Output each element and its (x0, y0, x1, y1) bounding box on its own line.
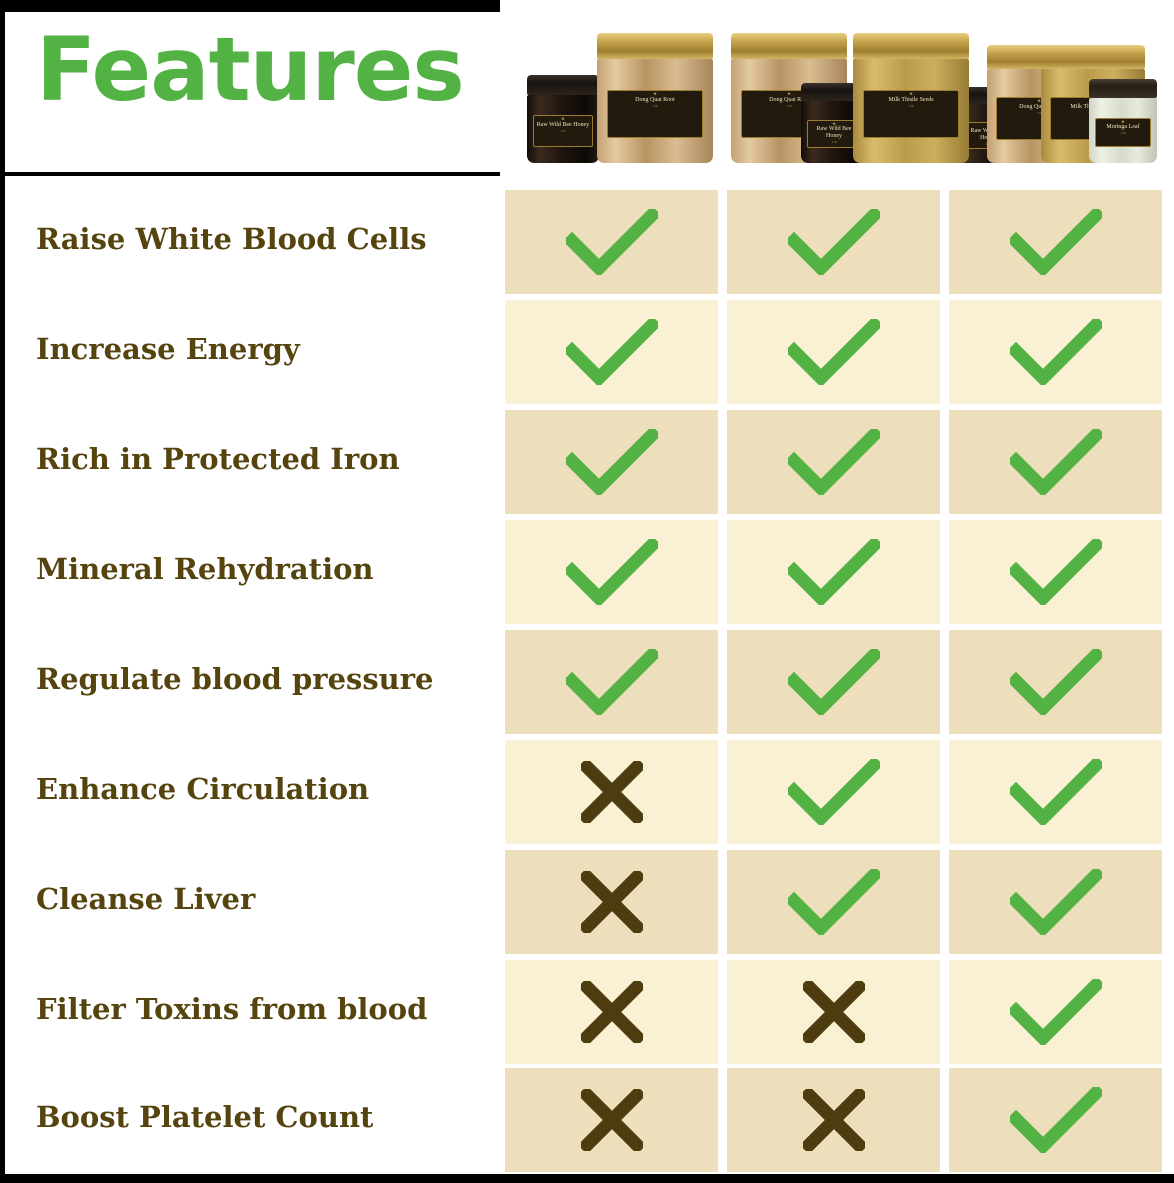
feature-label: Rich in Protected Iron (36, 442, 400, 476)
header-frame-bottom-border (0, 172, 500, 176)
check-icon (788, 539, 880, 605)
jar-lid (731, 33, 847, 59)
check-icon (788, 319, 880, 385)
comparison-cell (727, 630, 940, 734)
feature-label: Increase Energy (36, 332, 300, 366)
check-icon (566, 539, 658, 605)
jar-label-size: 1 lb (534, 129, 591, 133)
check-icon (1010, 1087, 1102, 1153)
comparison-cell (949, 740, 1162, 844)
jar-label-size: 1 lb (864, 104, 957, 108)
jar-lid (1041, 45, 1145, 69)
cross-icon (803, 981, 865, 1043)
cross-icon (581, 1089, 643, 1151)
comparison-cell (727, 960, 940, 1064)
comparison-cell (505, 1068, 718, 1172)
check-icon (788, 759, 880, 825)
feature-label: Raise White Blood Cells (36, 222, 427, 256)
comparison-cell (505, 630, 718, 734)
jar-label-name: Milk Thistle Seeds (864, 97, 957, 104)
product-jar-clear: ❀Moringa Leaf1 lb (1089, 79, 1157, 163)
comparison-cell (727, 410, 940, 514)
check-icon (788, 649, 880, 715)
feature-label: Filter Toxins from blood (36, 992, 427, 1026)
comparison-cell (727, 300, 940, 404)
feature-label: Cleanse Liver (36, 882, 255, 916)
header-frame-top-border (0, 0, 500, 12)
comparison-cell (505, 190, 718, 294)
feature-label: Enhance Circulation (36, 772, 369, 806)
check-icon (788, 209, 880, 275)
feature-label: Regulate blood pressure (36, 662, 434, 696)
comparison-cell (949, 850, 1162, 954)
comparison-cell (949, 410, 1162, 514)
check-icon (566, 649, 658, 715)
feature-label: Mineral Rehydration (36, 552, 374, 586)
check-icon (1010, 429, 1102, 495)
comparison-cell (505, 520, 718, 624)
comparison-cell (727, 740, 940, 844)
page-left-border (0, 0, 5, 1183)
comparison-cell (505, 960, 718, 1064)
check-icon (788, 869, 880, 935)
cross-icon (581, 761, 643, 823)
check-icon (1010, 649, 1102, 715)
jar-label: ❀Dong Quai Root1 lb (607, 90, 702, 138)
comparison-cell (505, 300, 718, 404)
check-icon (1010, 209, 1102, 275)
jar-label: ❀Milk Thistle Seeds1 lb (863, 90, 958, 138)
cross-icon (581, 871, 643, 933)
check-icon (788, 429, 880, 495)
check-icon (566, 209, 658, 275)
jar-label-name: Moringa Leaf (1096, 124, 1150, 131)
product-column-1: ❀Raw Wild Bee Honey1 lb❀Dong Quai Root1 … (505, 30, 718, 185)
check-icon (1010, 759, 1102, 825)
comparison-cell (949, 520, 1162, 624)
jar-label: ❀Moringa Leaf1 lb (1095, 118, 1151, 148)
jar-lid (853, 33, 969, 59)
jar-lid (597, 33, 713, 59)
comparison-cell (505, 740, 718, 844)
comparison-cell (949, 1068, 1162, 1172)
product-column-3: ❀Raw Wild Bee Honey1 lb❀Dong Quai Root1 … (949, 30, 1162, 185)
page-title: Features (36, 26, 464, 114)
check-icon (566, 429, 658, 495)
check-icon (1010, 979, 1102, 1045)
comparison-cell (727, 1068, 940, 1172)
cross-icon (803, 1089, 865, 1151)
comparison-cell (949, 630, 1162, 734)
jar-label-name: Dong Quai Root (608, 97, 701, 104)
product-jar-root: ❀Dong Quai Root1 lb (597, 33, 713, 163)
check-icon (1010, 539, 1102, 605)
jar-label-size: 1 lb (1096, 131, 1150, 135)
product-jar-seed: ❀Milk Thistle Seeds1 lb (853, 33, 969, 163)
comparison-cell (949, 190, 1162, 294)
jar-label: ❀Raw Wild Bee Honey1 lb (533, 115, 592, 146)
comparison-cell (505, 850, 718, 954)
check-icon (1010, 869, 1102, 935)
comparison-cell (505, 410, 718, 514)
comparison-cell (727, 850, 940, 954)
comparison-cell (949, 300, 1162, 404)
jar-label-size: 1 lb (608, 104, 701, 108)
feature-label: Boost Platelet Count (36, 1100, 373, 1134)
product-column-2: ❀Dong Quai Root1 lb❀Raw Wild Bee Honey1 … (727, 30, 940, 185)
jar-lid (1089, 79, 1157, 98)
page-bottom-border (0, 1174, 1174, 1183)
jar-lid (527, 75, 599, 95)
comparison-cell (727, 520, 940, 624)
cross-icon (581, 981, 643, 1043)
check-icon (1010, 319, 1102, 385)
comparison-cell (727, 190, 940, 294)
check-icon (566, 319, 658, 385)
comparison-cell (949, 960, 1162, 1064)
product-header-row: ❀Raw Wild Bee Honey1 lb❀Dong Quai Root1 … (505, 30, 1163, 185)
product-jar-dark: ❀Raw Wild Bee Honey1 lb (527, 75, 599, 163)
jar-label-name: Raw Wild Bee Honey (534, 122, 591, 129)
